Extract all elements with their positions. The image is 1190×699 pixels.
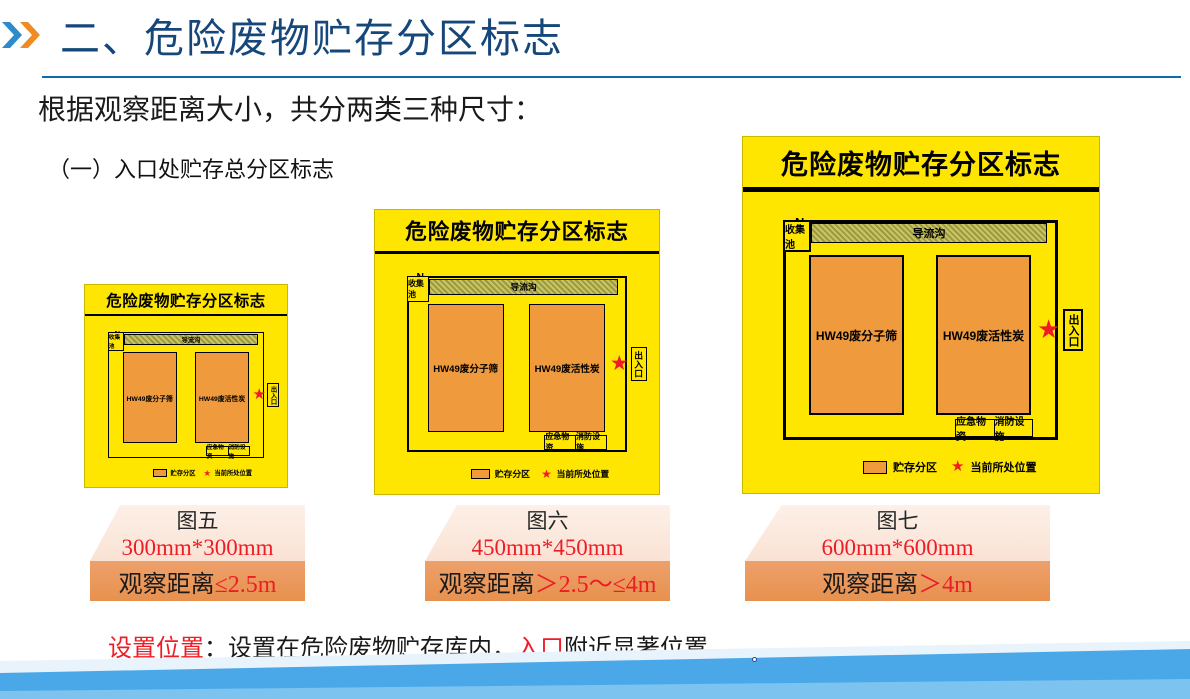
drainage-ditch: 导流沟 (429, 279, 618, 295)
storage-zone-right: HW49废活性炭 (936, 255, 1031, 415)
footer-wave-decoration (0, 639, 1190, 699)
caption-distance-value: ＞2.5～≤4m (535, 572, 657, 598)
entrance-exit-gate: 出入口 (267, 383, 278, 407)
lead-paragraph: 根据观察距离大小，共分两类三种尺寸： (38, 88, 542, 128)
legend-position-label: 当前所处位置 (970, 459, 1036, 475)
facility-emergency-supplies: 应急物资 (207, 447, 228, 455)
facility-emergency-supplies: 应急物资 (545, 436, 575, 448)
caption-size-label: 600mm*600mm (821, 535, 973, 561)
facility-fire-equipment: 消防设施 (228, 447, 250, 455)
current-position-star-icon: ★ (610, 354, 629, 375)
legend-zone-label: 贮存分区 (170, 468, 195, 477)
legend-position-label: 当前所处位置 (214, 468, 252, 477)
sign-legend: 贮存分区 ★ 当前所处位置 (153, 468, 252, 477)
collection-pool: 收集池 (407, 276, 429, 302)
legend-star-icon: ★ (203, 469, 211, 478)
storage-zone-right: HW49废活性炭 (195, 352, 249, 443)
legend-zone-swatch-icon (153, 469, 167, 476)
caption-figure-label: 图六 (527, 505, 569, 535)
current-position-star-icon: ★ (1037, 317, 1060, 343)
storage-zone-left: HW49废分子筛 (123, 352, 177, 443)
facility-fire-equipment: 消防设施 (994, 420, 1033, 436)
caption-size-label: 450mm*450mm (471, 535, 623, 561)
legend-zone-swatch-icon (471, 469, 490, 479)
sign-figure-1: 危险废物贮存分区标志 N 导流沟收集池HW49废分子筛HW49废活性炭 应急物资… (84, 284, 288, 488)
legend-zone-swatch-icon (863, 461, 887, 474)
legend-star-icon: ★ (951, 460, 964, 475)
slide-canvas: 二、危险废物贮存分区标志 根据观察距离大小，共分两类三种尺寸： （一）入口处贮存… (0, 0, 1190, 699)
stray-dot-artifact (752, 657, 757, 662)
section-subheading: （一）入口处贮存总分区标志 (48, 152, 334, 184)
sign-legend: 贮存分区 ★ 当前所处位置 (863, 459, 1036, 475)
caption-distance-prefix: 观察距离 (822, 572, 918, 598)
legend-zone-label: 贮存分区 (495, 467, 530, 480)
sign-figure-2: 危险废物贮存分区标志 N 导流沟收集池HW49废分子筛HW49废活性炭 应急物资… (374, 209, 660, 495)
caption-size-label: 300mm*300mm (121, 535, 273, 561)
legend-position-label: 当前所处位置 (557, 467, 610, 480)
caption-distance-value: ≤2.5m (215, 572, 277, 598)
storage-zone-left: HW49废分子筛 (809, 255, 904, 415)
entrance-exit-gate: 出入口 (631, 347, 647, 381)
drainage-ditch: 导流沟 (124, 334, 258, 345)
facility-emergency-supplies: 应急物资 (956, 420, 994, 436)
entrance-exit-gate: 出入口 (1063, 309, 1083, 351)
caption-figure-1: 图五 300mm*300mm 观察距离≤2.5m (90, 505, 305, 601)
caption-figure-2: 图六 450mm*450mm 观察距离＞2.5～≤4m (425, 505, 670, 601)
caption-figure-label: 图七 (877, 505, 919, 535)
sign-figure-3: 危险废物贮存分区标志 N 导流沟收集池HW49废分子筛HW49废活性炭 应急物资… (742, 136, 1100, 494)
sign-legend: 贮存分区 ★ 当前所处位置 (471, 467, 609, 480)
legend-star-icon: ★ (541, 468, 552, 480)
title-divider (42, 76, 1181, 78)
drainage-ditch: 导流沟 (811, 223, 1047, 243)
page-title: 二、危险废物贮存分区标志 (60, 6, 564, 64)
storage-zone-left: HW49废分子筛 (428, 304, 504, 432)
caption-figure-label: 图五 (177, 505, 219, 535)
caption-distance-prefix: 观察距离 (439, 572, 535, 598)
facility-boxes: 应急物资 消防设施 (955, 419, 1033, 437)
caption-distance-prefix: 观察距离 (119, 572, 215, 598)
facility-boxes: 应急物资 消防设施 (544, 435, 606, 449)
legend-zone-label: 贮存分区 (893, 459, 937, 475)
facility-fire-equipment: 消防设施 (575, 436, 606, 448)
double-chevron-right-icon (2, 18, 52, 52)
storage-zone-right: HW49废活性炭 (529, 304, 605, 432)
current-position-star-icon: ★ (253, 388, 266, 403)
caption-figure-3: 图七 600mm*600mm 观察距离＞4m (745, 505, 1050, 601)
facility-boxes: 应急物资 消防设施 (206, 446, 250, 456)
sign-title: 危险废物贮存分区标志 (743, 137, 1099, 192)
sign-title: 危险废物贮存分区标志 (375, 210, 659, 254)
caption-distance-value: ＞4m (918, 572, 973, 598)
collection-pool: 收集池 (783, 220, 811, 252)
collection-pool: 收集池 (108, 332, 124, 350)
sign-title: 危险废物贮存分区标志 (85, 285, 287, 316)
